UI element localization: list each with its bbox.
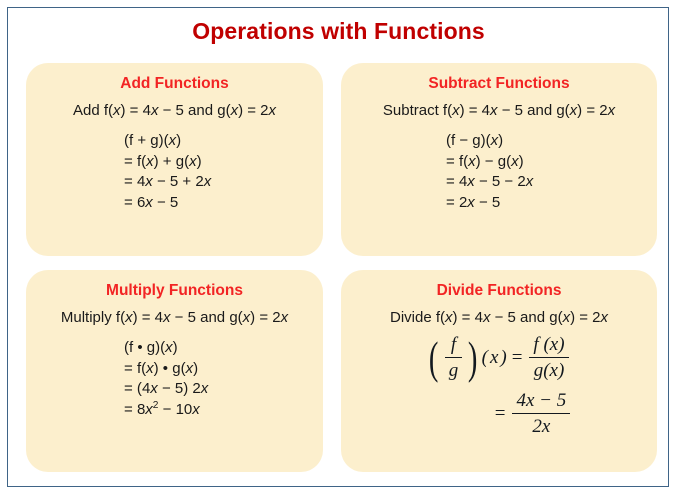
op-plus: +	[163, 153, 172, 170]
equation-line: = (4x − 5) 2x	[124, 379, 323, 400]
op-equals: =	[491, 403, 510, 425]
page-title: Operations with Functions	[0, 18, 677, 45]
prompt-mid-2: − 5 and g(	[171, 309, 243, 326]
prompt-mid-1: ) = 4	[453, 309, 483, 326]
equation-line: = f(x) + g(x)	[124, 152, 323, 173]
panel-prompt-subtract: Subtract f(x) = 4x − 5 and g(x) = 2x	[341, 102, 657, 119]
op-minus: −	[504, 173, 513, 190]
var-x: x	[146, 153, 154, 170]
equation-block-divide: ( f g ) (x) = f (x) g(x) = 4x − 5 2x	[341, 334, 657, 438]
prompt-mid-3: ) = 2	[577, 102, 607, 119]
var-x: x	[467, 194, 475, 211]
prompt-mid-1: ) = 4	[460, 102, 490, 119]
op-equals: =	[124, 401, 133, 418]
prompt-var-4: x	[281, 309, 289, 326]
op-equals: =	[446, 194, 455, 211]
prompt-mid-2: − 5 and g(	[498, 102, 570, 119]
fraction-denominator: g	[445, 358, 463, 382]
var-x: x	[146, 360, 154, 377]
var-x: x	[145, 401, 153, 418]
panel-subtract-functions: Subtract Functions Subtract f(x) = 4x − …	[341, 63, 657, 256]
equation-line: = 4x − 5 + 2x	[124, 172, 323, 193]
panel-prompt-add: Add f(x) = 4x − 5 and g(x) = 2x	[26, 102, 323, 119]
fraction-numerator: f	[445, 334, 463, 358]
equation-line: (f − g)(x)	[446, 131, 657, 152]
fn-g: g	[176, 153, 184, 170]
equation-line: (f + g)(x)	[124, 131, 323, 152]
op-equals: =	[124, 194, 133, 211]
prompt-mid-2: − 5 and g(	[158, 102, 230, 119]
op-minus: −	[479, 173, 488, 190]
fraction-numerator: 4x − 5	[512, 390, 570, 414]
quotient-result-row: = 4x − 5 2x	[341, 390, 657, 438]
panel-divide-functions: Divide Functions Divide f(x) = 4x − 5 an…	[341, 270, 657, 472]
prompt-var-1: x	[445, 309, 453, 326]
prompt-lead: Add f(	[73, 102, 113, 119]
var-x: x	[165, 339, 173, 356]
argument-var: x	[489, 347, 499, 369]
var-x: x	[186, 360, 194, 377]
prompt-var-3: x	[563, 309, 571, 326]
fraction-fx-over-gx: f (x) g(x)	[526, 334, 571, 382]
op-equals: =	[446, 153, 455, 170]
var-x: x	[526, 173, 534, 190]
var-x: x	[189, 153, 197, 170]
panel-prompt-divide: Divide f(x) = 4x − 5 and g(x) = 2x	[341, 309, 657, 326]
op-equals: =	[124, 360, 133, 377]
prompt-var-1: x	[113, 102, 121, 119]
panel-prompt-multiply: Multiply f(x) = 4x − 5 and g(x) = 2x	[26, 309, 323, 326]
const: 5	[492, 194, 500, 211]
op-equals: =	[124, 380, 133, 397]
op-plus: +	[182, 173, 191, 190]
prompt-var-3: x	[231, 102, 239, 119]
equation-block-subtract: (f − g)(x) = f(x) − g(x) = 4x − 5 − 2x =…	[341, 131, 657, 213]
fraction-result: 4x − 5 2x	[509, 390, 573, 438]
fraction-denominator: 2x	[512, 414, 570, 438]
panel-heading-divide: Divide Functions	[341, 282, 657, 300]
equation-block-add: (f + g)(x) = f(x) + g(x) = 4x − 5 + 2x =…	[26, 131, 323, 213]
prompt-lead: Multiply f(	[61, 309, 125, 326]
equation-block-multiply: (f • g)(x) = f(x) • g(x) = (4x − 5) 2x =…	[26, 338, 323, 420]
prompt-var-4: x	[601, 309, 609, 326]
var-x: x	[204, 173, 212, 190]
op-dot: •	[163, 360, 168, 377]
equation-line: (f • g)(x)	[124, 338, 323, 359]
prompt-var-1: x	[452, 102, 460, 119]
var-x: x	[145, 194, 153, 211]
prompt-var-4: x	[608, 102, 616, 119]
prompt-var-4: x	[269, 102, 277, 119]
op-plus: +	[137, 132, 146, 149]
big-paren-open: (	[429, 339, 439, 377]
panel-heading-multiply: Multiply Functions	[26, 282, 323, 300]
op-minus: −	[162, 380, 171, 397]
quotient-definition-row: ( f g ) (x) = f (x) g(x)	[341, 334, 657, 382]
var-x: x	[201, 380, 209, 397]
var-x: x	[511, 153, 519, 170]
prompt-mid-3: ) = 2	[570, 309, 600, 326]
var-x: x	[145, 173, 153, 190]
fn-f: f	[129, 132, 133, 149]
prompt-var-2: x	[490, 102, 498, 119]
op-equals: =	[446, 173, 455, 190]
panel-add-functions: Add Functions Add f(x) = 4x − 5 and g(x)…	[26, 63, 323, 256]
poster-canvas: Operations with Functions Add Functions …	[0, 0, 677, 495]
const: 5	[175, 380, 183, 397]
fraction-numerator: f (x)	[529, 334, 568, 358]
equation-line: = 8x2 − 10x	[124, 400, 323, 421]
var-x: x	[192, 401, 200, 418]
fn-g: g	[498, 153, 506, 170]
argument-open: (	[481, 347, 489, 369]
prompt-mid-3: ) = 2	[250, 309, 280, 326]
const: 5	[170, 194, 178, 211]
fn-f: f	[459, 153, 463, 170]
fn-f: f	[137, 153, 141, 170]
fraction-f-over-g: f g	[442, 334, 466, 382]
coef: 10	[176, 401, 193, 418]
equation-line: = f(x) • g(x)	[124, 359, 323, 380]
var-x: x	[467, 173, 475, 190]
op-dot: •	[137, 339, 142, 356]
equation-line: = 6x − 5	[124, 193, 323, 214]
fraction-denominator: g(x)	[529, 358, 568, 382]
panel-heading-add: Add Functions	[26, 75, 323, 93]
var-x: x	[150, 380, 158, 397]
coef: 2	[192, 380, 200, 397]
op-minus: −	[163, 401, 172, 418]
const: 5	[170, 173, 178, 190]
fn-g: g	[472, 132, 480, 149]
op-minus: −	[157, 173, 166, 190]
fn-f: f	[451, 132, 455, 149]
coef: 2	[517, 173, 525, 190]
op-equals: =	[124, 153, 133, 170]
prompt-var-2: x	[163, 309, 171, 326]
var-x: x	[169, 132, 177, 149]
op-minus: −	[157, 194, 166, 211]
op-minus: −	[479, 194, 488, 211]
fn-g: g	[172, 360, 180, 377]
panel-heading-subtract: Subtract Functions	[341, 75, 657, 93]
argument-close: )	[499, 347, 507, 369]
fn-g: g	[150, 132, 158, 149]
equation-line: = f(x) − g(x)	[446, 152, 657, 173]
op-minus: −	[459, 132, 468, 149]
prompt-var-1: x	[125, 309, 133, 326]
big-paren-close: )	[468, 339, 478, 377]
coef: 2	[195, 173, 203, 190]
op-equals: =	[124, 173, 133, 190]
op-equals: =	[508, 347, 527, 369]
equation-line: = 2x − 5	[446, 193, 657, 214]
var-x: x	[468, 153, 476, 170]
prompt-lead: Subtract f(	[383, 102, 452, 119]
var-x: x	[491, 132, 499, 149]
exponent: 2	[153, 400, 159, 411]
fn-f: f	[129, 339, 133, 356]
fn-f: f	[137, 360, 141, 377]
fn-g: g	[147, 339, 155, 356]
prompt-lead: Divide f(	[390, 309, 445, 326]
op-minus: −	[485, 153, 494, 170]
equation-line: = 4x − 5 − 2x	[446, 172, 657, 193]
const: 5	[492, 173, 500, 190]
prompt-mid-3: ) = 2	[238, 102, 268, 119]
prompt-mid-1: ) = 4	[121, 102, 151, 119]
prompt-mid-2: − 5 and g(	[490, 309, 562, 326]
panel-multiply-functions: Multiply Functions Multiply f(x) = 4x − …	[26, 270, 323, 472]
prompt-mid-1: ) = 4	[133, 309, 163, 326]
